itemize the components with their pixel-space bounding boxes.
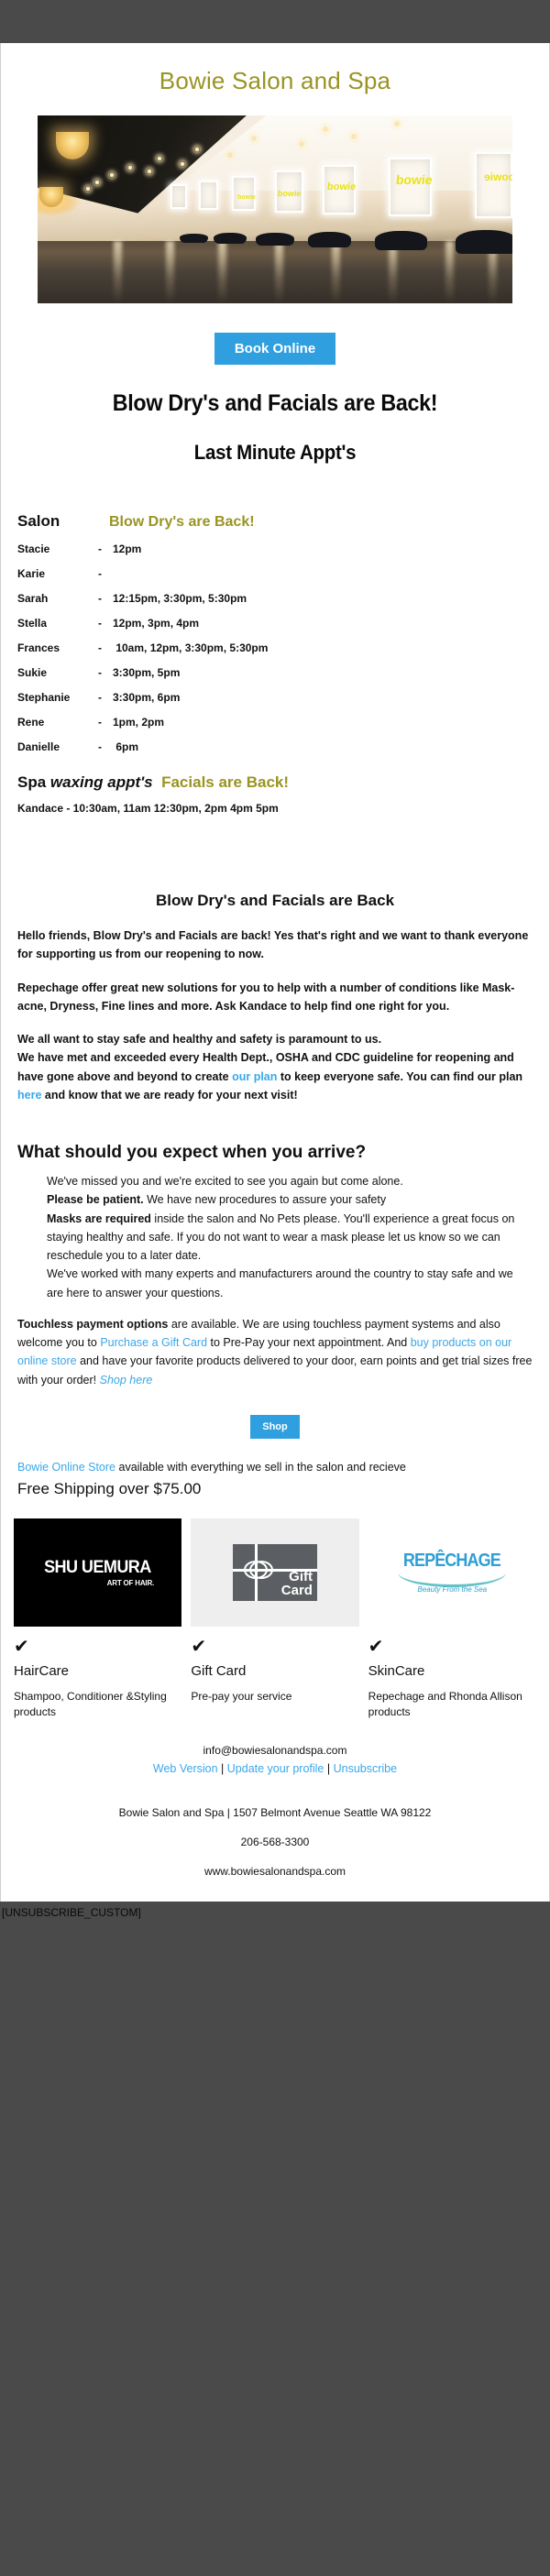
safety-line-1: We all want to stay safe and healthy and… bbox=[17, 1033, 381, 1046]
stylist-name: Stella bbox=[17, 617, 98, 630]
schedule-col-title: Blow Dry's are Back! bbox=[109, 514, 255, 531]
link-separator: | bbox=[327, 1762, 330, 1775]
facials-back-label: Facials are Back! bbox=[161, 773, 289, 791]
row-dash: - bbox=[98, 666, 113, 679]
book-online-button[interactable]: Book Online bbox=[214, 333, 335, 365]
table-row: Sarah - 12:15pm, 3:30pm, 5:30pm bbox=[17, 592, 533, 605]
page-title: Bowie Salon and Spa bbox=[1, 43, 549, 115]
article-paragraph-2: Repechage offer great new solutions for … bbox=[17, 979, 533, 1016]
row-dash: - bbox=[98, 592, 113, 605]
card-heading: HairCare bbox=[14, 1663, 181, 1679]
business-phone: 206-568-3300 bbox=[10, 1819, 540, 1848]
shu-uemura-logo-icon: SHU UEMURA ART OF HAIR. bbox=[14, 1518, 181, 1627]
card-skincare[interactable]: REPÊCHAGE Beauty From the Sea ✔ SkinCare… bbox=[368, 1518, 536, 1721]
bow-loop-right bbox=[249, 1561, 273, 1579]
check-icon: ✔ bbox=[14, 1638, 181, 1656]
card-body: Shampoo, Conditioner &Styling products bbox=[14, 1689, 181, 1721]
chandelier-icon bbox=[39, 187, 63, 207]
card-heading: Gift Card bbox=[191, 1663, 358, 1679]
free-shipping-label: Free Shipping over $75.00 bbox=[1, 1476, 549, 1498]
repechage-logo-icon: REPÊCHAGE Beauty From the Sea bbox=[368, 1518, 536, 1627]
shop-button[interactable]: Shop bbox=[250, 1415, 300, 1439]
repechage-tagline: Beauty From the Sea bbox=[398, 1585, 506, 1594]
card-body: Repechage and Rhonda Allison products bbox=[368, 1689, 536, 1721]
gift-card-icon: GiftCard bbox=[191, 1518, 358, 1627]
check-icon: ✔ bbox=[368, 1638, 536, 1656]
article-paragraph-3: We all want to stay safe and healthy and… bbox=[17, 1030, 533, 1104]
contact-email: info@bowiesalonandspa.com bbox=[10, 1744, 540, 1757]
stylist-times: 12:15pm, 3:30pm, 5:30pm bbox=[113, 592, 247, 605]
row-dash: - bbox=[98, 716, 113, 729]
expect-line-2: We have new procedures to assure your sa… bbox=[144, 1193, 387, 1206]
row-dash: - bbox=[98, 543, 113, 555]
article-section: Blow Dry's and Facials are Back Hello fr… bbox=[1, 820, 549, 1389]
shop-button-row: Shop bbox=[1, 1402, 549, 1459]
table-row: Stephanie - 3:30pm, 6pm bbox=[17, 691, 533, 704]
table-row: Stacie - 12pm bbox=[17, 543, 533, 555]
unsubscribe-link[interactable]: Unsubscribe bbox=[334, 1762, 397, 1775]
row-dash: - bbox=[98, 641, 113, 654]
safety-line-4: and know that we are ready for your next… bbox=[41, 1089, 297, 1102]
card-haircare[interactable]: SHU UEMURA ART OF HAIR. ✔ HairCare Shamp… bbox=[14, 1518, 181, 1721]
email-body: Bowie Salon and Spa bbox=[0, 43, 550, 1902]
spa-waxing-label: waxing appt's bbox=[50, 773, 153, 791]
check-icon: ✔ bbox=[191, 1638, 358, 1656]
table-row: Danielle - 6pm bbox=[17, 740, 533, 753]
payment-paragraph: Touchless payment options are available.… bbox=[17, 1315, 533, 1389]
table-row: Rene - 1pm, 2pm bbox=[17, 716, 533, 729]
repechage-wordmark: REPÊCHAGE bbox=[403, 1551, 500, 1572]
stylist-name: Karie bbox=[17, 567, 98, 580]
row-dash: - bbox=[98, 617, 113, 630]
headline-primary: Blow Dry's and Facials are Back! bbox=[20, 389, 530, 441]
stylist-times: 1pm, 2pm bbox=[113, 716, 164, 729]
stylist-times: 10am, 12pm, 3:30pm, 5:30pm bbox=[113, 641, 268, 654]
card-body: Pre-pay your service bbox=[191, 1689, 358, 1705]
shu-uemura-wordmark: SHU UEMURA bbox=[44, 1558, 151, 1578]
expect-body: We've missed you and we're excited to se… bbox=[17, 1172, 533, 1302]
gift-card-word-2: Card bbox=[281, 1583, 313, 1598]
table-row: Stella - 12pm, 3pm, 4pm bbox=[17, 617, 533, 630]
payment-text-3: and have your favorite products delivere… bbox=[17, 1354, 532, 1386]
please-be-patient-label: Please be patient. bbox=[47, 1193, 144, 1206]
business-website: www.bowiesalonandspa.com bbox=[10, 1848, 540, 1902]
footer-links: Web Version | Update your profile | Unsu… bbox=[10, 1757, 540, 1775]
expect-line-4: We've worked with many experts and manuf… bbox=[47, 1267, 513, 1299]
row-dash: - bbox=[98, 691, 113, 704]
unsubscribe-token: [UNSUBSCRIBE_CUSTOM] bbox=[0, 1902, 550, 1979]
store-blurb: Bowie Online Store available with everyt… bbox=[1, 1459, 549, 1476]
masks-required-label: Masks are required bbox=[47, 1212, 151, 1225]
shop-here-link[interactable]: Shop here bbox=[100, 1374, 153, 1387]
product-cards: SHU UEMURA ART OF HAIR. ✔ HairCare Shamp… bbox=[1, 1498, 549, 1721]
stylist-name: Frances bbox=[17, 641, 98, 654]
safety-line-3: to keep everyone safe. You can find our … bbox=[277, 1070, 522, 1083]
table-row: Kandace - 10:30am, 11am 12:30pm, 2pm 4pm… bbox=[17, 802, 533, 815]
schedule-header-row: Salon Blow Dry's are Back! bbox=[17, 512, 533, 531]
row-dash: - bbox=[98, 567, 113, 580]
schedule-col-salon: Salon bbox=[17, 512, 109, 531]
payment-text-2: to Pre-Pay your next appointment. And bbox=[207, 1336, 411, 1349]
expect-line-1: We've missed you and we're excited to se… bbox=[47, 1175, 403, 1188]
stylist-name: Rene bbox=[17, 716, 98, 729]
purchase-gift-card-link[interactable]: Purchase a Gift Card bbox=[100, 1336, 207, 1349]
business-address: Bowie Salon and Spa | 1507 Belmont Avenu… bbox=[10, 1775, 540, 1819]
expect-heading: What should you expect when you arrive? bbox=[17, 1119, 533, 1172]
stylist-times: 12pm bbox=[113, 543, 141, 555]
bowie-online-store-link[interactable]: Bowie Online Store bbox=[17, 1461, 115, 1474]
appointment-schedule: Salon Blow Dry's are Back! Stacie - 12pm… bbox=[1, 492, 549, 820]
shu-uemura-tagline: ART OF HAIR. bbox=[41, 1579, 154, 1587]
link-separator: | bbox=[221, 1762, 224, 1775]
book-online-row: Book Online bbox=[1, 303, 549, 389]
email-page: Bowie Salon and Spa bbox=[0, 0, 550, 1979]
card-gift-card[interactable]: GiftCard ✔ Gift Card Pre-pay your servic… bbox=[191, 1518, 358, 1721]
top-chrome-bar bbox=[0, 0, 550, 43]
here-link[interactable]: here bbox=[17, 1089, 41, 1102]
stylist-times: 6pm bbox=[113, 740, 138, 753]
store-blurb-text: available with everything we sell in the… bbox=[115, 1461, 406, 1474]
stylist-times: 3:30pm, 6pm bbox=[113, 691, 180, 704]
headline-secondary: Last Minute Appt's bbox=[20, 441, 530, 492]
email-footer: info@bowiesalonandspa.com Web Version | … bbox=[1, 1720, 549, 1902]
stylist-name: Stephanie bbox=[17, 691, 98, 704]
row-dash: - bbox=[98, 740, 113, 753]
card-heading: SkinCare bbox=[368, 1663, 536, 1679]
salon-interior-photo: bowie bowie bowie bowie bowie bbox=[38, 115, 512, 303]
touchless-payment-label: Touchless payment options bbox=[17, 1318, 168, 1331]
floor bbox=[38, 241, 512, 303]
spa-section-header: Spa waxing appt's Facials are Back! bbox=[17, 773, 533, 792]
table-row: Karie - bbox=[17, 567, 533, 580]
stylist-name: Sarah bbox=[17, 592, 98, 605]
stylist-name: Danielle bbox=[17, 740, 98, 753]
article-paragraph-1: Hello friends, Blow Dry's and Facials ar… bbox=[17, 926, 533, 964]
table-row: Frances - 10am, 12pm, 3:30pm, 5:30pm bbox=[17, 641, 533, 654]
our-plan-link[interactable]: our plan bbox=[232, 1070, 277, 1083]
spa-label: Spa bbox=[17, 773, 50, 791]
web-version-link[interactable]: Web Version bbox=[153, 1762, 218, 1775]
update-profile-link[interactable]: Update your profile bbox=[227, 1762, 324, 1775]
stylist-name: Sukie bbox=[17, 666, 98, 679]
article-title: Blow Dry's and Facials are Back bbox=[17, 820, 533, 926]
stylist-name: Stacie bbox=[17, 543, 98, 555]
hero-image-wrap: bowie bowie bowie bowie bowie bbox=[1, 115, 549, 303]
stylist-times: 3:30pm, 5pm bbox=[113, 666, 180, 679]
stylist-times: 12pm, 3pm, 4pm bbox=[113, 617, 199, 630]
expect-paragraph: We've missed you and we're excited to se… bbox=[47, 1172, 533, 1302]
table-row: Sukie - 3:30pm, 5pm bbox=[17, 666, 533, 679]
